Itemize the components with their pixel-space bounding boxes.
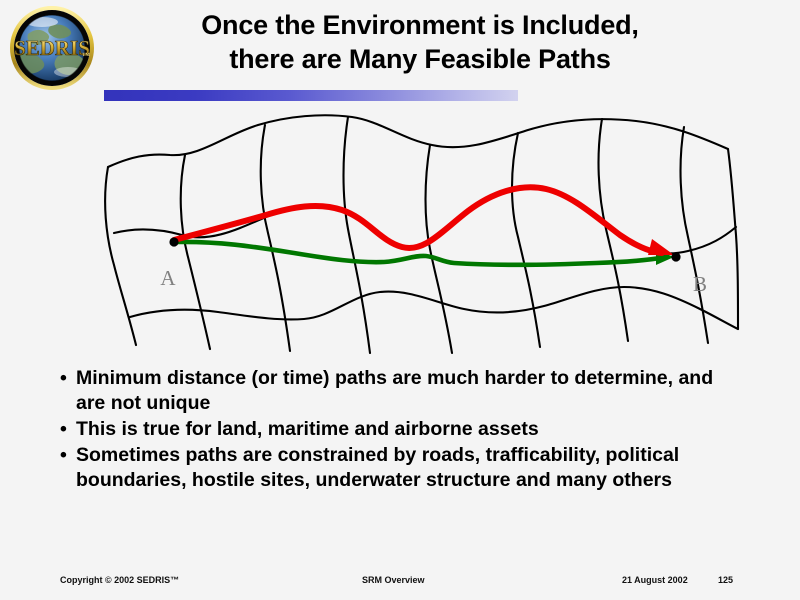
mesh-line-v-5 — [426, 145, 453, 353]
logo-wordmark: SEDRIS — [14, 36, 90, 60]
mesh-line-edge-right — [728, 149, 738, 329]
mesh-line-h-bottom — [130, 287, 738, 329]
mesh-line-v-1 — [105, 167, 136, 345]
footer-page-number: 125 — [718, 575, 733, 585]
bullet-text: Sometimes paths are constrained by roads… — [76, 444, 679, 491]
mesh-line-h-top — [108, 115, 728, 167]
slide-footer: Copyright © 2002 SEDRIS™ SRM Overview 21… — [0, 572, 800, 592]
footer-deck-title: SRM Overview — [362, 575, 425, 585]
point-b-label: B — [693, 272, 707, 296]
list-item: • Minimum distance (or time) paths are m… — [58, 366, 716, 416]
page-title-line-2: there are Many Feasible Paths — [120, 42, 720, 76]
bullet-marker: • — [60, 443, 67, 468]
bullet-list: • Minimum distance (or time) paths are m… — [58, 366, 758, 494]
terrain-mesh-svg: A B — [80, 105, 740, 355]
page-title-line-1: Once the Environment is Included, — [120, 8, 720, 42]
terrain-mesh-paths-diagram: A B — [80, 105, 740, 355]
point-b-dot — [671, 252, 680, 261]
point-a-dot — [169, 237, 178, 246]
red-path-arrowhead — [648, 239, 674, 255]
list-item: • This is true for land, maritime and ai… — [58, 417, 736, 442]
sedris-logo: SEDRIS ™ — [6, 6, 98, 90]
bullet-marker: • — [60, 417, 67, 442]
title-gradient-rule — [104, 88, 518, 99]
footer-date: 21 August 2002 — [622, 575, 688, 585]
bullet-text: Minimum distance (or time) paths are muc… — [76, 367, 713, 414]
page-title: Once the Environment is Included, there … — [120, 8, 720, 76]
sedris-logo-svg: SEDRIS ™ — [6, 6, 98, 90]
logo-trademark: ™ — [82, 51, 90, 60]
mesh-line-v-4 — [344, 117, 371, 353]
slide-canvas: SEDRIS ™ Once the Environment is Include… — [0, 0, 800, 600]
bullet-text: This is true for land, maritime and airb… — [76, 418, 539, 440]
mesh-line-v-6 — [512, 133, 540, 347]
point-a-label: A — [160, 266, 176, 290]
list-item: • Sometimes paths are constrained by roa… — [58, 443, 726, 493]
title-gradient-rule-svg — [104, 90, 518, 101]
mesh-line-v-2 — [181, 155, 210, 349]
bullet-marker: • — [60, 366, 67, 391]
red-path — [174, 187, 662, 253]
footer-copyright: Copyright © 2002 SEDRIS™ — [60, 575, 179, 585]
